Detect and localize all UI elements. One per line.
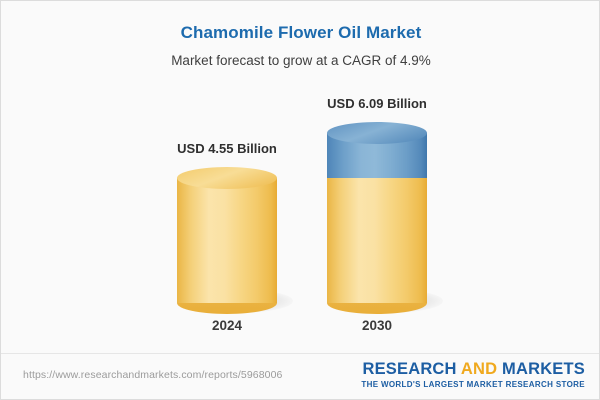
logo-wordmark: RESEARCH AND MARKETS [361,360,585,379]
footer: https://www.researchandmarkets.com/repor… [1,354,600,400]
bar-top-ellipse-2024 [177,167,277,189]
bar-cylinder-2030 [327,122,427,307]
logo-word-and: AND [461,360,497,378]
bar-group-2030: USD 6.09 Billion 2030 [327,1,427,353]
plot-area: USD 4.55 Billion 2024 USD 6.09 Billion [1,1,600,353]
chart-card: Chamomile Flower Oil Market Market forec… [0,0,600,400]
logo-word-research: RESEARCH [362,360,456,378]
research-and-markets-logo[interactable]: RESEARCH AND MARKETS THE WORLD'S LARGEST… [361,360,585,389]
category-label-2030: 2030 [277,318,477,333]
source-url[interactable]: https://www.researchandmarkets.com/repor… [23,369,282,381]
logo-word-markets: MARKETS [502,360,585,378]
value-label-2024: USD 4.55 Billion [127,141,327,156]
bar-group-2024: USD 4.55 Billion 2024 [177,1,277,353]
bar-body-cover-2030 [327,178,427,303]
value-label-2030: USD 6.09 Billion [277,96,477,111]
bar-body-cover-2024 [177,178,277,303]
bar-top-ellipse-2030 [327,122,427,144]
bar-cylinder-2024 [177,167,277,307]
logo-tagline: THE WORLD'S LARGEST MARKET RESEARCH STOR… [361,380,585,389]
